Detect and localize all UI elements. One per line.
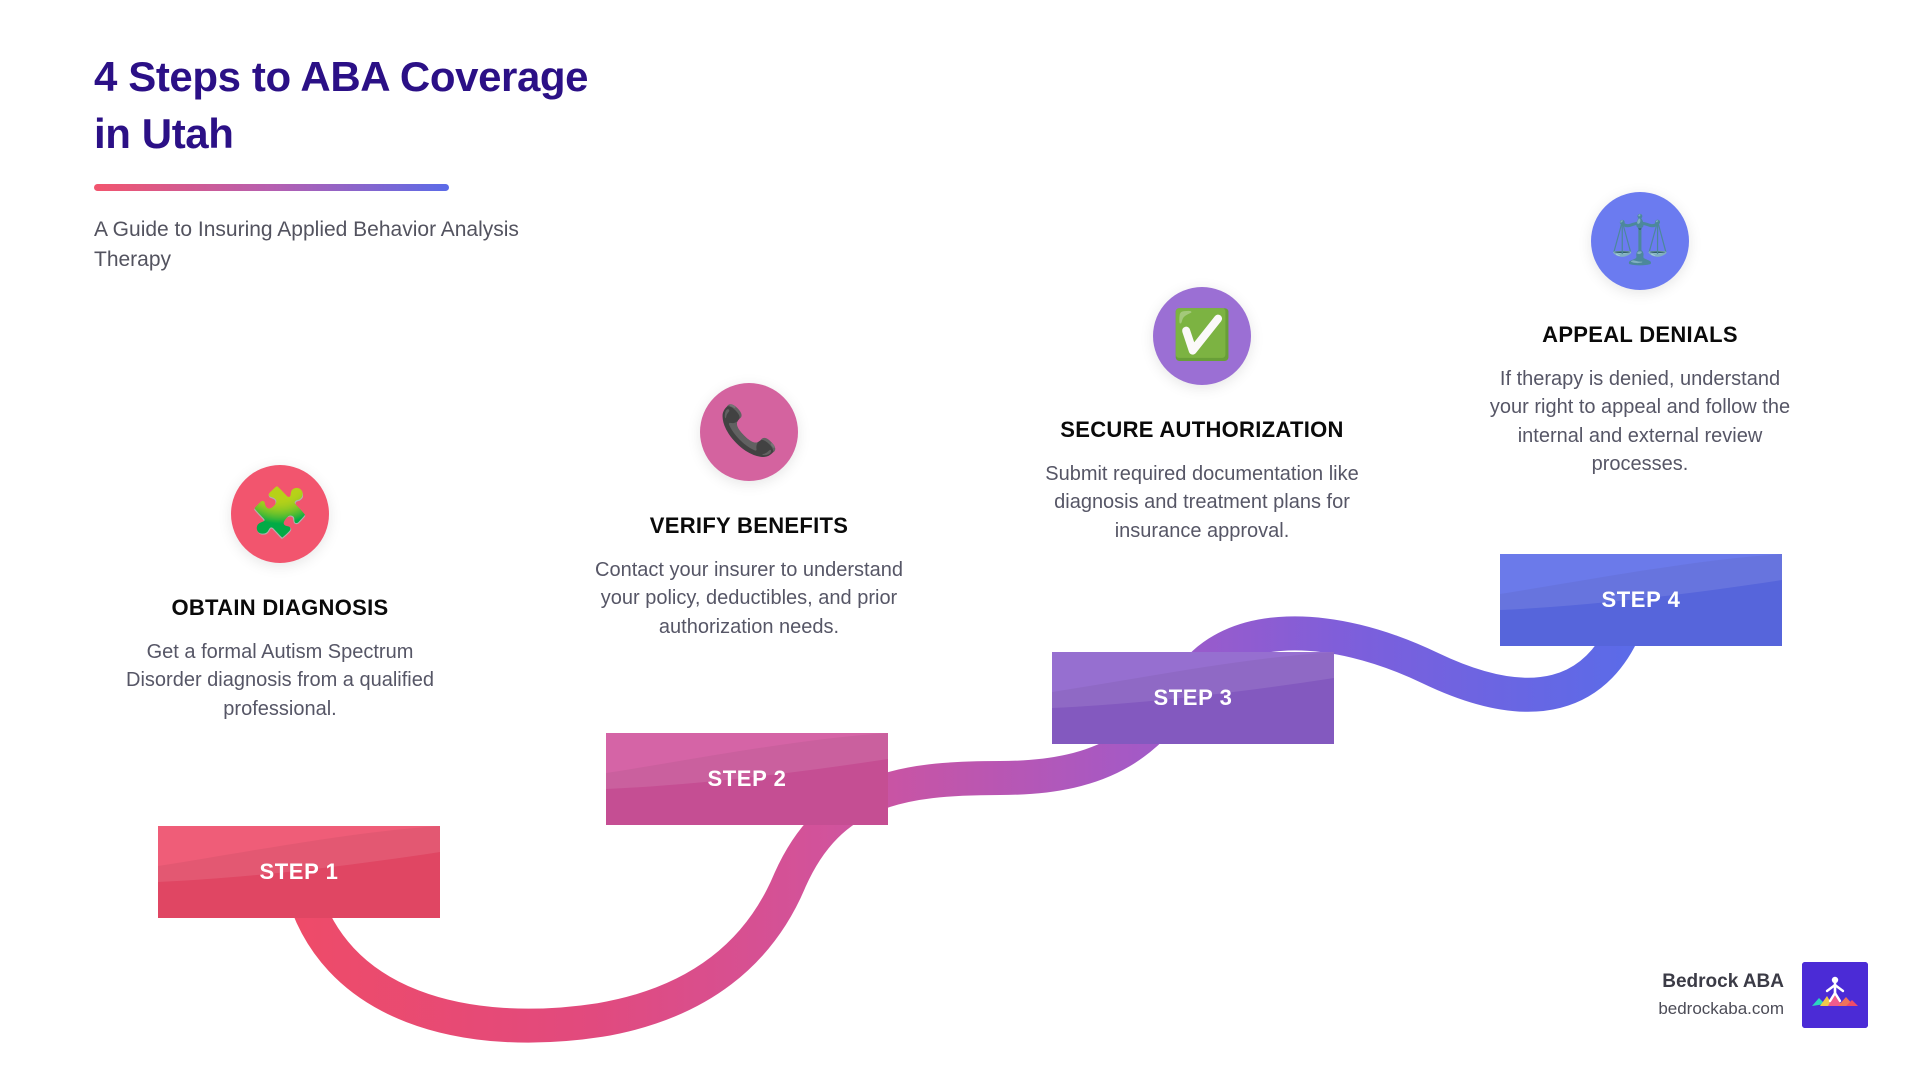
step-4-banner[interactable]: STEP 4 — [1500, 554, 1782, 646]
step-2-banner[interactable]: STEP 2 — [606, 733, 888, 825]
step-1-description: Get a formal Autism Spectrum Disorder di… — [120, 638, 440, 723]
telephone-icon: 📞 — [719, 408, 779, 456]
logo-artwork — [1802, 962, 1868, 1028]
step-4-heading: APPEAL DENIALS — [1480, 322, 1800, 348]
step-2-description: Contact your insurer to understand your … — [589, 556, 909, 641]
footer-text-block: Bedrock ABA bedrockaba.com — [1658, 971, 1784, 1019]
step-1-number: STEP 1 — [259, 859, 338, 885]
step-card-1[interactable]: 🧩 OBTAIN DIAGNOSIS Get a formal Autism S… — [120, 465, 440, 723]
page-subtitle: A Guide to Insuring Applied Behavior Ana… — [94, 215, 534, 275]
step-4-number: STEP 4 — [1601, 587, 1680, 613]
page-title-line1: 4 Steps to ABA Coverage — [94, 53, 588, 100]
header-block: 4 Steps to ABA Coverage in Utah A Guide … — [94, 48, 714, 275]
step-card-2[interactable]: 📞 VERIFY BENEFITS Contact your insurer t… — [589, 383, 909, 641]
step-4-icon-circle: ⚖️ — [1591, 192, 1689, 290]
step-2-heading: VERIFY BENEFITS — [589, 513, 909, 539]
step-1-icon-circle: 🧩 — [231, 465, 329, 563]
step-card-3[interactable]: ✅ SECURE AUTHORIZATION Submit required d… — [1032, 287, 1372, 545]
step-3-icon-circle: ✅ — [1153, 287, 1251, 385]
step-card-4[interactable]: ⚖️ APPEAL DENIALS If therapy is denied, … — [1480, 192, 1800, 479]
step-4-description: If therapy is denied, understand your ri… — [1480, 365, 1800, 479]
footer-website-url[interactable]: bedrockaba.com — [1658, 999, 1784, 1019]
step-3-banner[interactable]: STEP 3 — [1052, 652, 1334, 744]
step-2-number: STEP 2 — [707, 766, 786, 792]
footer: Bedrock ABA bedrockaba.com — [1658, 962, 1868, 1028]
footer-brand-name: Bedrock ABA — [1658, 971, 1784, 993]
step-3-heading: SECURE AUTHORIZATION — [1032, 417, 1372, 443]
page-title-line2: in Utah — [94, 110, 234, 157]
bedrock-mountain-logo — [1802, 962, 1868, 1028]
step-2-icon-circle: 📞 — [700, 383, 798, 481]
puzzle-piece-icon: 🧩 — [250, 490, 310, 538]
title-divider — [94, 184, 449, 191]
balance-scale-icon: ⚖️ — [1610, 217, 1670, 265]
step-3-number: STEP 3 — [1153, 685, 1232, 711]
step-1-heading: OBTAIN DIAGNOSIS — [120, 595, 440, 621]
page-title: 4 Steps to ABA Coverage in Utah — [94, 48, 714, 162]
check-mark-button-icon: ✅ — [1172, 312, 1232, 360]
step-1-banner[interactable]: STEP 1 — [158, 826, 440, 918]
step-3-description: Submit required documentation like diagn… — [1032, 460, 1372, 545]
